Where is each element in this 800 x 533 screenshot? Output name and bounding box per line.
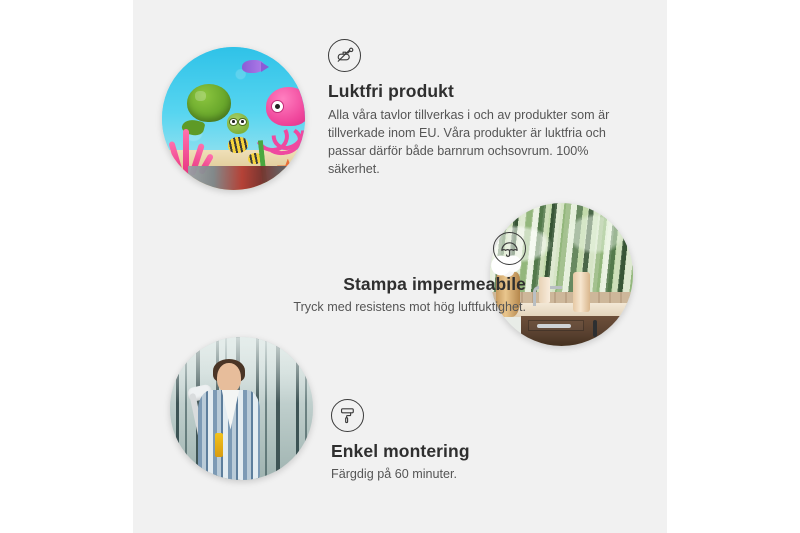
turtle-shell <box>187 84 230 122</box>
turtle-head <box>227 113 249 134</box>
feature-title: Enkel montering <box>331 441 631 462</box>
woman-head <box>217 363 241 393</box>
woman-figure <box>193 363 273 480</box>
content-panel: Luktfri produkt Alla våra tavlor tillver… <box>133 0 667 533</box>
room-furniture-strip <box>188 166 305 190</box>
feature-body: Alla våra tavlor tillverkas i och av pro… <box>328 107 628 179</box>
turtle-eye-left <box>229 118 238 126</box>
feature-block-waterproof: Stampa impermeabile Tryck med resistens … <box>198 232 526 317</box>
feature-body: Färgdig på 60 minuter. <box>331 466 631 484</box>
no-scent-perfume-bottle-icon <box>328 39 361 72</box>
woman-paint-roller-forest-circle-image <box>170 337 313 480</box>
cabinet-door-handle <box>593 320 597 337</box>
turtle-eye-right <box>238 118 247 126</box>
yellow-tool-handle <box>215 433 222 456</box>
umbrella-icon <box>493 232 526 265</box>
product-feature-panel: Luktfri produkt Alla våra tavlor tillver… <box>0 0 800 533</box>
drawer-handle <box>537 324 570 328</box>
purple-fish-icon <box>242 60 263 73</box>
feature-block-easy-install: Enkel montering Färgdig på 60 minuter. <box>331 399 631 484</box>
candle-icon <box>539 277 550 303</box>
feature-title: Stampa impermeabile <box>198 274 526 295</box>
soap-dispenser-icon <box>573 272 590 312</box>
underwater-cartoon-circle-image <box>162 47 305 190</box>
octopus-eye <box>271 100 285 114</box>
yellow-striped-fish-icon <box>228 137 248 153</box>
feature-body: Tryck med resistens mot hög luftfuktighe… <box>198 299 526 317</box>
feature-block-odourless: Luktfri produkt Alla våra tavlor tillver… <box>328 39 628 179</box>
paint-roller-icon <box>331 399 364 432</box>
feature-title: Luktfri produkt <box>328 81 628 102</box>
octopus-head <box>266 87 305 126</box>
wooden-cabinet <box>521 316 633 346</box>
coral-branch <box>168 141 183 176</box>
